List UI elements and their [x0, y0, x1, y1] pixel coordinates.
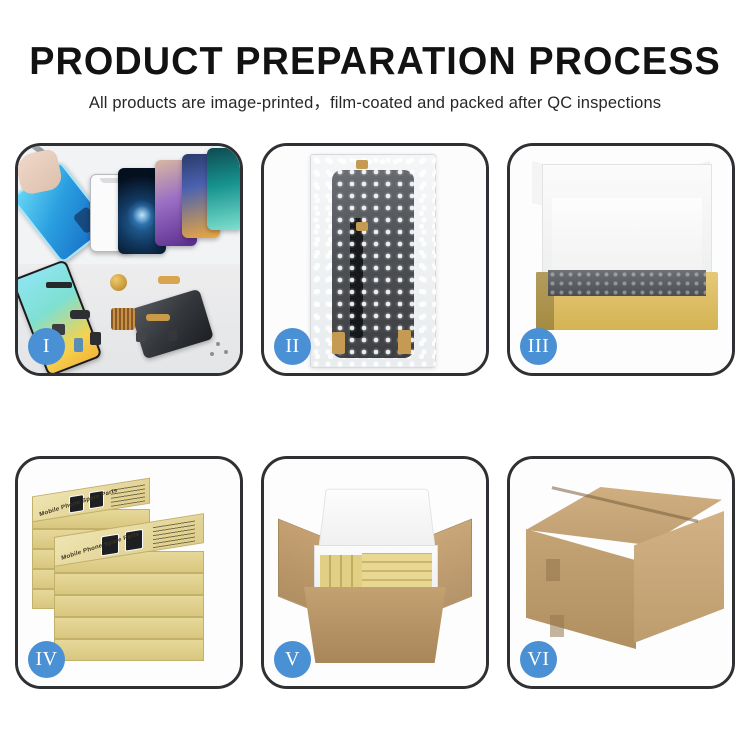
retail-box: [54, 595, 204, 617]
step-badge-4: IV: [28, 641, 65, 678]
product-preparation-infographic: PRODUCT PREPARATION PROCESS All products…: [0, 0, 750, 750]
page-subtitle: All products are image-printed，film-coat…: [0, 93, 750, 113]
bubble-wrap-filling-icon: [548, 270, 706, 296]
tape-icon: [398, 330, 411, 354]
tape-icon: [356, 222, 368, 231]
process-step-5[interactable]: V: [261, 456, 489, 689]
sim-tray-icon: [74, 338, 83, 352]
screw-icon: [224, 350, 228, 354]
box-spec-lines: [111, 482, 145, 506]
foam-sheet-icon: [552, 198, 702, 270]
carton-front-face: [526, 529, 636, 649]
step-badge-1: I: [28, 328, 65, 365]
header: PRODUCT PREPARATION PROCESS All products…: [0, 40, 750, 113]
retail-box: [54, 617, 204, 639]
logic-board-icon: [111, 308, 135, 330]
box-spec-lines: [153, 520, 195, 549]
process-step-2[interactable]: II: [261, 143, 489, 376]
process-step-grid: I II: [15, 143, 735, 689]
process-step-1[interactable]: I: [15, 143, 243, 376]
step-badge-3: III: [520, 328, 557, 365]
screw-icon: [216, 342, 220, 346]
flex-cable-icon: [70, 310, 90, 319]
screw-icon: [210, 352, 214, 356]
small-component-icon: [90, 332, 101, 345]
small-component-icon: [168, 330, 177, 341]
tape-icon: [332, 332, 345, 354]
flex-cable-icon: [158, 276, 180, 284]
carton-tape-icon: [546, 559, 560, 581]
step-badge-2: II: [274, 328, 311, 365]
retail-box: [54, 639, 204, 661]
step-badge-5: V: [274, 641, 311, 678]
page-title: PRODUCT PREPARATION PROCESS: [11, 40, 739, 84]
process-step-4[interactable]: Mobile Phone Spare Parts Mobile Phone Sp…: [15, 456, 243, 689]
carton-tape-icon: [550, 615, 564, 637]
tape-icon: [356, 160, 368, 169]
small-component-icon: [136, 332, 146, 342]
process-step-3[interactable]: III: [507, 143, 735, 376]
bubble-texture-overlay: [310, 154, 436, 368]
step-badge-6: VI: [520, 641, 557, 678]
retail-box: [54, 573, 204, 595]
battery-strip-icon: [46, 282, 72, 288]
flex-cable-icon: [146, 314, 170, 321]
process-step-6[interactable]: VI: [507, 456, 735, 689]
phone-teal-icon: [207, 148, 240, 230]
shipping-carton-icon: [304, 587, 446, 663]
speaker-component-icon: [110, 274, 127, 291]
retail-box-stack: Mobile Phone Spare Parts Mobile Phone Sp…: [26, 473, 236, 673]
